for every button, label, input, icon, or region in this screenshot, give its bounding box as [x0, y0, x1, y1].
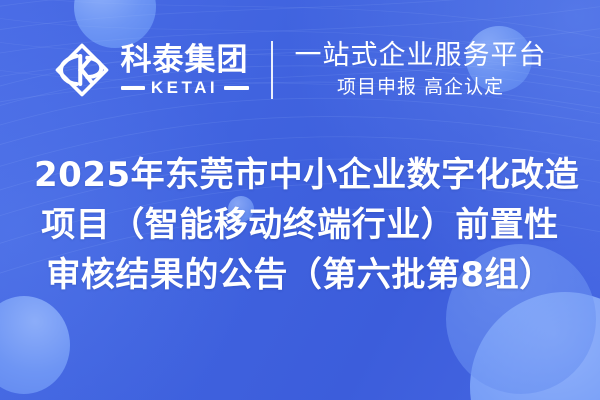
slogan-sub-text: 项目申报 高企认定	[337, 76, 504, 99]
company-slogan: 一站式企业服务平台 项目申报 高企认定	[295, 41, 547, 99]
header-vertical-divider	[271, 41, 273, 99]
logo-english-row: KETAI	[121, 79, 249, 96]
logo-rule-left	[121, 86, 145, 90]
ketai-kd-monogram-icon	[54, 42, 110, 98]
banner-header: 科泰集团 KETAI 一站式企业服务平台 项目申报 高企认定	[0, 0, 600, 140]
logo-company-name-en: KETAI	[151, 79, 218, 96]
announcement-title: 2025年东莞市中小企业数字化改造 项目（智能移动终端行业）前置性 审核结果的公…	[0, 150, 600, 300]
logo-rule-right	[224, 86, 248, 90]
page-title-line-2: 项目（智能移动终端行业）前置性	[34, 200, 566, 250]
slogan-main-text: 一站式企业服务平台	[295, 41, 547, 71]
logo-wordmark: 科泰集团 KETAI	[121, 44, 249, 97]
company-logo[interactable]: 科泰集团 KETAI	[54, 42, 249, 98]
page-title-line-1: 2025年东莞市中小企业数字化改造	[34, 150, 566, 200]
page-title-line-3: 审核结果的公告（第六批第8组）	[34, 250, 566, 300]
logo-company-name-cn: 科泰集团	[121, 44, 249, 77]
announcement-banner: 科泰集团 KETAI 一站式企业服务平台 项目申报 高企认定 2025年东莞市中…	[0, 0, 600, 400]
